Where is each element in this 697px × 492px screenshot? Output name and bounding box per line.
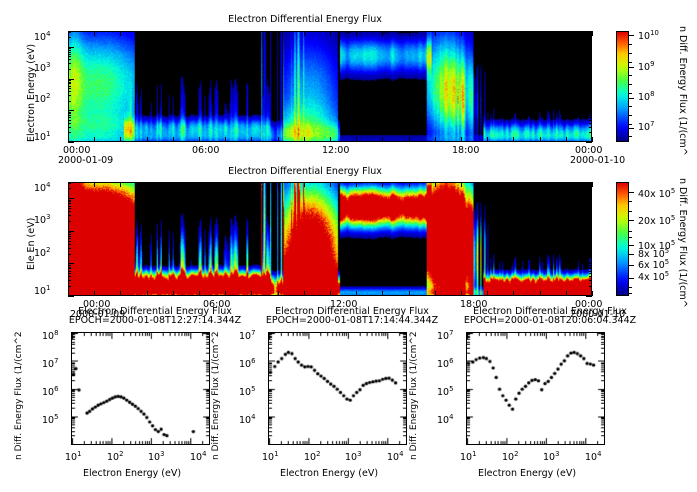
axis-tick <box>68 110 74 111</box>
axis-tick <box>589 241 592 242</box>
axis-tick <box>513 137 514 142</box>
spectrum-2-xtick-2: 103 <box>345 452 361 463</box>
top-cbtick-2: 108 <box>638 92 654 103</box>
axis-tick <box>68 276 71 277</box>
middle-cbtick-0: 40x 105 <box>638 189 675 200</box>
axis-tick <box>68 254 71 255</box>
axis-tick <box>592 291 593 296</box>
axis-tick <box>409 31 410 36</box>
axis-tick <box>589 201 592 202</box>
axis-tick <box>68 221 71 222</box>
axis-tick <box>589 95 592 96</box>
middle-colorbar-gradient <box>617 183 628 295</box>
axis-tick <box>513 31 514 36</box>
axis-tick <box>586 110 592 111</box>
spectrum-2-xtick-0: 101 <box>262 452 278 463</box>
axis-tick <box>589 56 592 57</box>
axis-tick <box>356 31 357 36</box>
spectrum-3-ytick-0: 107 <box>437 331 453 342</box>
spectrum-3-canvas <box>467 333 604 444</box>
axis-tick <box>330 31 331 36</box>
axis-tick <box>629 93 632 94</box>
axis-tick <box>629 192 634 193</box>
axis-tick <box>461 182 462 187</box>
axis-tick <box>586 198 592 199</box>
spectrum-2-epoch: EPOCH=2000-01-08T17:14:44.344Z <box>247 315 457 326</box>
axis-tick <box>68 37 71 38</box>
axis-tick <box>566 291 567 296</box>
axis-tick <box>589 123 592 124</box>
axis-tick <box>629 67 634 68</box>
axis-tick <box>68 203 71 204</box>
axis-tick <box>629 35 634 36</box>
axis-tick <box>586 47 592 48</box>
middle-panel-title: Electron Differential Energy Flux <box>70 166 540 177</box>
axis-tick <box>629 201 632 202</box>
axis-tick <box>589 244 592 245</box>
axis-tick <box>68 82 71 83</box>
axis-tick <box>487 291 488 296</box>
spectrum-3-ylabel: n Diff. Energy Flux (1/(cm^2 <box>409 331 419 460</box>
spectrum-3-epoch: EPOCH=2000-01-08T20:06:04.344Z <box>445 315 655 326</box>
spectrum-1-ytick-0: 108 <box>42 331 58 342</box>
axis-tick <box>68 142 74 143</box>
axis-tick <box>589 254 592 255</box>
spectrum-1-xlabel: Electron Energy (eV) <box>83 468 181 479</box>
axis-tick <box>435 291 436 296</box>
axis-tick <box>589 127 592 128</box>
axis-tick <box>68 232 71 233</box>
spectrum-2-xlabel: Electron Energy (eV) <box>280 468 378 479</box>
axis-tick <box>68 280 71 281</box>
axis-tick <box>68 241 71 242</box>
axis-tick <box>461 137 462 142</box>
top-colorbar-label: n Diff. Energy Flux (1/(cm^ <box>677 26 688 156</box>
axis-tick <box>589 37 592 38</box>
axis-tick <box>589 286 592 287</box>
axis-tick <box>173 182 174 187</box>
axis-tick <box>629 254 634 255</box>
middle-spectrogram-canvas <box>69 183 591 295</box>
top-cbtick-3: 107 <box>638 122 654 133</box>
axis-tick <box>382 182 383 187</box>
axis-tick <box>589 273 592 274</box>
axis-tick <box>68 88 71 89</box>
axis-tick <box>629 278 634 279</box>
axis-tick <box>225 182 226 187</box>
axis-tick <box>68 69 71 70</box>
axis-tick <box>589 276 592 277</box>
axis-tick <box>278 182 279 187</box>
axis-tick <box>68 200 71 201</box>
axis-tick <box>304 291 305 296</box>
axis-tick <box>589 112 592 113</box>
axis-tick <box>513 182 514 187</box>
spectrum-2-xtick-3: 104 <box>387 452 403 463</box>
axis-tick <box>68 271 71 272</box>
axis-tick <box>629 128 634 129</box>
top-cbtick-0: 1010 <box>638 31 659 42</box>
axis-tick <box>147 291 148 296</box>
axis-tick <box>589 236 592 237</box>
spectrum-2-ytick-1: 106 <box>239 359 255 370</box>
axis-tick <box>589 115 592 116</box>
axis-tick <box>629 293 632 294</box>
axis-tick <box>629 136 632 137</box>
axis-tick <box>251 182 252 187</box>
axis-tick <box>68 63 71 64</box>
axis-tick <box>589 268 592 269</box>
axis-tick <box>68 236 71 237</box>
axis-tick <box>68 54 71 55</box>
axis-tick <box>487 31 488 36</box>
top-panel-ylabel: Electron Energy (eV) <box>26 44 37 142</box>
spectrum-3-ytick-3: 104 <box>437 415 453 426</box>
axis-tick <box>435 31 436 36</box>
axis-tick <box>173 291 174 296</box>
top-colorbar <box>616 31 629 142</box>
axis-tick <box>68 208 71 209</box>
top-xtick-3: 18:00 <box>452 145 479 156</box>
axis-tick <box>68 79 74 80</box>
axis-tick <box>513 291 514 296</box>
axis-tick <box>68 265 71 266</box>
axis-tick <box>589 69 592 70</box>
top-cbtick-1: 109 <box>638 62 654 73</box>
axis-tick <box>589 101 592 102</box>
axis-tick <box>68 31 69 36</box>
spectrum-1-ytick-2: 106 <box>42 387 58 398</box>
axis-tick <box>629 265 634 266</box>
axis-tick <box>589 54 592 55</box>
spectrum-3-xtick-2: 103 <box>543 452 559 463</box>
axis-tick <box>589 203 592 204</box>
axis-tick <box>147 137 148 142</box>
middle-colorbar-label: n Diff. Energy Flux (1/(cm^ <box>677 178 688 308</box>
axis-tick <box>225 31 226 36</box>
axis-tick <box>68 215 71 216</box>
axis-tick <box>382 137 383 142</box>
axis-tick <box>68 127 71 128</box>
axis-tick <box>589 83 592 84</box>
axis-tick <box>589 59 592 60</box>
spectrum-1-ylabel: n Diff. Energy Flux (1/(cm^2 <box>14 331 24 460</box>
top-ytick-3: 101 <box>34 132 50 143</box>
axis-tick <box>629 98 634 99</box>
axis-tick <box>589 52 592 53</box>
axis-tick <box>629 115 632 116</box>
axis-tick <box>94 137 95 142</box>
axis-tick <box>68 231 74 232</box>
spectrum-2-ytick-3: 104 <box>239 415 255 426</box>
spectrum-1-ytick-3: 105 <box>42 415 58 426</box>
axis-tick <box>68 50 71 51</box>
axis-tick <box>356 182 357 187</box>
spectrum-3-ytick-2: 105 <box>437 387 453 398</box>
axis-tick <box>629 237 632 238</box>
axis-tick <box>225 137 226 142</box>
middle-ytick-3: 101 <box>34 286 50 297</box>
axis-tick <box>629 106 632 107</box>
axis-tick <box>589 206 592 207</box>
top-ytick-2: 102 <box>34 94 50 105</box>
top-ytick-0: 104 <box>34 32 50 43</box>
spectrum-2-canvas <box>269 333 406 444</box>
axis-tick <box>304 137 305 142</box>
axis-tick <box>199 291 200 296</box>
spectrum-3-xlabel: Electron Energy (eV) <box>478 468 576 479</box>
axis-tick <box>120 291 121 296</box>
axis-tick <box>278 291 279 296</box>
top-xtick-1: 06:00 <box>192 145 219 156</box>
axis-tick <box>487 137 488 142</box>
axis-tick <box>356 137 357 142</box>
axis-tick <box>589 88 592 89</box>
axis-tick <box>68 123 71 124</box>
axis-tick <box>120 182 121 187</box>
axis-tick <box>68 47 74 48</box>
axis-tick <box>409 137 410 142</box>
axis-tick <box>589 50 592 51</box>
axis-tick <box>629 220 634 221</box>
axis-tick <box>589 265 592 266</box>
axis-tick <box>68 80 71 81</box>
axis-tick <box>68 112 71 113</box>
axis-tick <box>540 137 541 142</box>
axis-tick <box>589 267 592 268</box>
axis-tick <box>225 291 226 296</box>
axis-tick <box>589 48 592 49</box>
axis-tick <box>589 208 592 209</box>
middle-ytick-0: 104 <box>34 183 50 194</box>
axis-tick <box>68 211 71 212</box>
axis-tick <box>68 132 71 133</box>
axis-tick <box>586 79 592 80</box>
axis-tick <box>68 52 71 53</box>
middle-ytick-1: 103 <box>34 215 50 226</box>
spectrum-3-xtick-0: 101 <box>460 452 476 463</box>
spectrum-1-xtick-0: 101 <box>65 452 81 463</box>
axis-tick <box>68 273 71 274</box>
axis-tick <box>199 182 200 187</box>
axis-tick <box>629 75 632 76</box>
axis-tick <box>68 48 71 49</box>
axis-tick <box>68 206 71 207</box>
axis-tick <box>629 62 632 63</box>
axis-tick <box>629 53 632 54</box>
spectrum-2-ytick-2: 105 <box>239 387 255 398</box>
axis-tick <box>435 182 436 187</box>
axis-tick <box>589 86 592 87</box>
top-spectrogram-canvas <box>69 32 591 141</box>
axis-tick <box>356 291 357 296</box>
axis-tick <box>589 132 592 133</box>
middle-cbtick-1: 20x 105 <box>638 216 675 227</box>
axis-tick <box>120 137 121 142</box>
axis-tick <box>409 291 410 296</box>
axis-tick <box>68 56 71 57</box>
axis-tick <box>592 31 593 36</box>
axis-tick <box>330 182 331 187</box>
spectrum-1-xtick-3: 104 <box>190 452 206 463</box>
axis-tick <box>68 268 71 269</box>
axis-tick <box>586 142 592 143</box>
spectrum-1-epoch: EPOCH=2000-01-08T12:27:14.344Z <box>50 315 260 326</box>
axis-tick <box>589 238 592 239</box>
axis-tick <box>68 244 71 245</box>
axis-tick <box>251 31 252 36</box>
top-panel-title: Electron Differential Energy Flux <box>70 14 540 25</box>
axis-tick <box>68 263 74 264</box>
axis-tick <box>68 267 71 268</box>
axis-tick <box>461 291 462 296</box>
axis-tick <box>278 137 279 142</box>
axis-tick <box>629 245 634 246</box>
axis-tick <box>68 137 69 142</box>
axis-tick <box>540 182 541 187</box>
spectrum-2-ytick-0: 107 <box>239 331 255 342</box>
axis-tick <box>382 31 383 36</box>
axis-tick <box>589 200 592 201</box>
top-colorbar-gradient <box>617 32 628 141</box>
axis-tick <box>629 44 632 45</box>
spectrum-3-xtick-3: 104 <box>585 452 601 463</box>
middle-colorbar <box>616 182 629 296</box>
axis-tick <box>540 291 541 296</box>
axis-tick <box>147 31 148 36</box>
axis-tick <box>68 117 71 118</box>
axis-tick <box>592 182 593 187</box>
axis-tick <box>629 231 632 232</box>
axis-tick <box>629 287 632 288</box>
axis-tick <box>173 137 174 142</box>
axis-tick <box>94 31 95 36</box>
axis-tick <box>589 63 592 64</box>
axis-tick <box>251 137 252 142</box>
axis-tick <box>589 211 592 212</box>
axis-tick <box>330 137 331 142</box>
axis-tick <box>68 91 71 92</box>
spectrum-2-xtick-1: 102 <box>304 452 320 463</box>
axis-tick <box>68 182 69 187</box>
axis-tick <box>68 248 71 249</box>
axis-tick <box>68 286 71 287</box>
axis-tick <box>435 137 436 142</box>
axis-tick <box>94 291 95 296</box>
axis-tick <box>68 188 71 189</box>
spectrum-1-plot <box>71 332 210 445</box>
axis-tick <box>540 31 541 36</box>
axis-tick <box>566 182 567 187</box>
axis-tick <box>589 188 592 189</box>
axis-tick <box>592 137 593 142</box>
axis-tick <box>68 234 71 235</box>
top-ytick-1: 103 <box>34 63 50 74</box>
axis-tick <box>589 221 592 222</box>
axis-tick <box>304 182 305 187</box>
axis-tick <box>589 117 592 118</box>
spectrum-1-ytick-1: 107 <box>42 359 58 370</box>
axis-tick <box>487 182 488 187</box>
middle-ytick-2: 102 <box>34 248 50 259</box>
axis-tick <box>586 263 592 264</box>
axis-tick <box>629 84 632 85</box>
axis-tick <box>68 198 74 199</box>
axis-tick <box>68 113 71 114</box>
axis-tick <box>173 31 174 36</box>
axis-tick <box>566 31 567 36</box>
axis-tick <box>629 211 632 212</box>
axis-tick <box>68 120 71 121</box>
top-spectrogram <box>68 31 592 142</box>
axis-tick <box>586 231 592 232</box>
axis-tick <box>589 280 592 281</box>
spectrum-2-ylabel: n Diff. Energy Flux (1/(cm^2 <box>211 331 221 460</box>
middle-cbtick-5: 4x 105 <box>638 272 669 283</box>
axis-tick <box>589 91 592 92</box>
axis-tick <box>94 182 95 187</box>
axis-tick <box>68 101 71 102</box>
spectrum-2-plot <box>268 332 407 445</box>
axis-tick <box>68 291 69 296</box>
spectrum-1-xtick-2: 103 <box>148 452 164 463</box>
axis-tick <box>68 115 71 116</box>
axis-tick <box>120 31 121 36</box>
axis-tick <box>586 296 592 297</box>
spectrum-3-ytick-1: 106 <box>437 359 453 370</box>
spectrum-1-xtick-1: 102 <box>107 452 123 463</box>
axis-tick <box>68 59 71 60</box>
axis-tick <box>278 31 279 36</box>
top-xtick-4-date: 2000-01-10 <box>570 155 625 166</box>
axis-tick <box>68 86 71 87</box>
axis-tick <box>589 232 592 233</box>
axis-tick <box>629 124 632 125</box>
spectrum-3-xtick-1: 102 <box>502 452 518 463</box>
axis-tick <box>199 31 200 36</box>
axis-tick <box>409 182 410 187</box>
axis-tick <box>68 238 71 239</box>
axis-tick <box>68 83 71 84</box>
axis-tick <box>461 31 462 36</box>
axis-tick <box>251 291 252 296</box>
axis-tick <box>147 182 148 187</box>
middle-spectrogram <box>68 182 592 296</box>
axis-tick <box>68 296 74 297</box>
axis-tick <box>68 95 71 96</box>
axis-tick <box>68 201 71 202</box>
axis-tick <box>382 291 383 296</box>
spectrum-1-canvas <box>72 333 209 444</box>
axis-tick <box>589 80 592 81</box>
axis-tick <box>589 234 592 235</box>
axis-tick <box>589 271 592 272</box>
axis-tick <box>589 113 592 114</box>
spectrum-3-plot <box>466 332 605 445</box>
top-xtick-2: 12:00 <box>322 145 349 156</box>
axis-tick <box>566 137 567 142</box>
axis-tick <box>589 215 592 216</box>
axis-tick <box>330 291 331 296</box>
axis-tick <box>589 82 592 83</box>
axis-tick <box>199 137 200 142</box>
axis-tick <box>589 248 592 249</box>
axis-tick <box>589 120 592 121</box>
top-xtick-0-date: 2000-01-09 <box>58 155 113 166</box>
axis-tick <box>304 31 305 36</box>
